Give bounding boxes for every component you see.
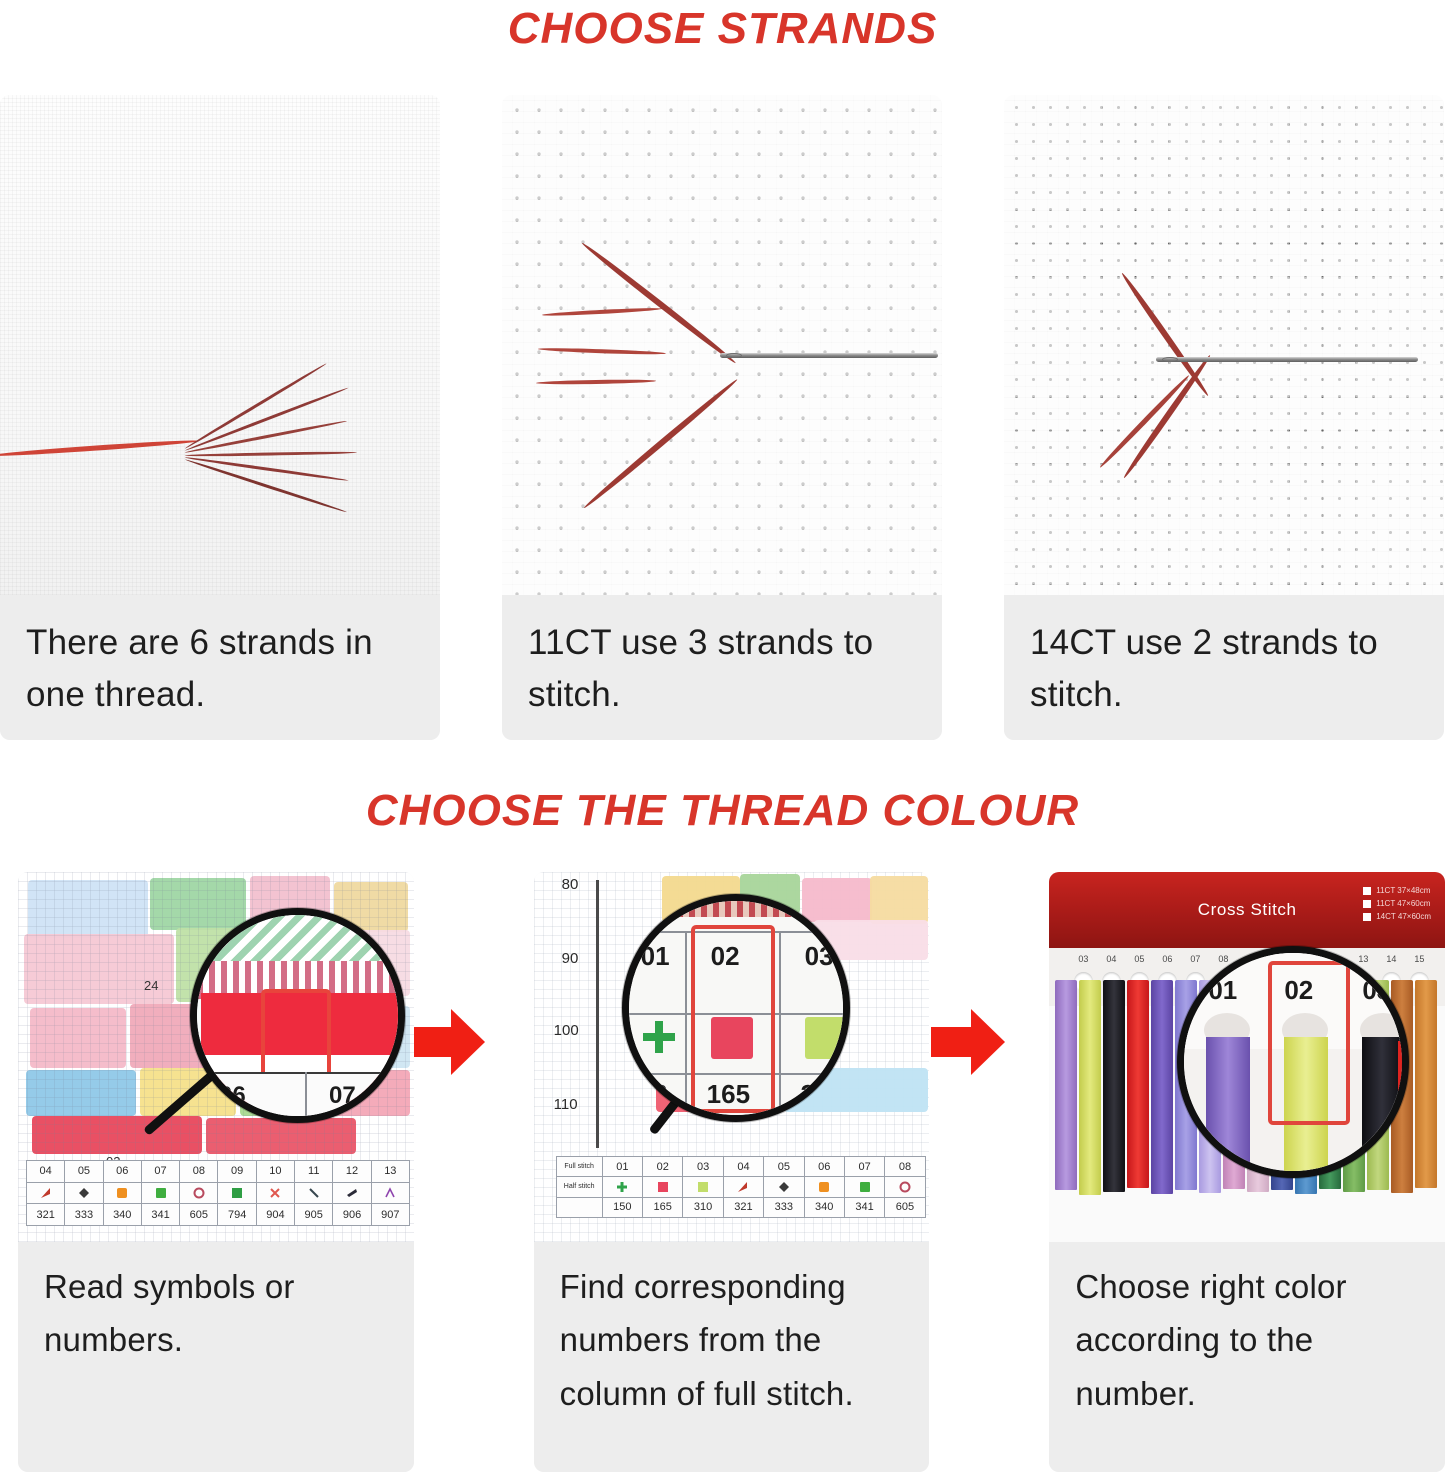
row-label-90: 90: [562, 950, 579, 967]
legend-symbol-diagonal-line-icon: [295, 1183, 333, 1204]
highlight-box-slot-02: [1268, 961, 1350, 1125]
thread-colour-card-row: 24 02 06 07: [0, 872, 1445, 1476]
legend-symbol-orange-square-icon: [104, 1183, 142, 1204]
legend-code: 904: [257, 1204, 295, 1225]
legend-code: 905: [295, 1204, 333, 1225]
legend-code: 310: [683, 1198, 723, 1217]
caption-11ct: 11CT use 3 strands to stitch.: [502, 595, 942, 740]
needle: [720, 353, 938, 358]
legend-symbol-red-square-icon: [643, 1177, 683, 1196]
caption-14ct: 14CT use 2 strands to stitch.: [1004, 595, 1444, 740]
legend-code: 333: [65, 1204, 103, 1225]
full-stitch-legend-table: Full stitch 01 02 03 04 05 06 07 08 Half…: [556, 1156, 926, 1218]
magnifier-lens: 01 02 03 66 165 310: [622, 894, 850, 1122]
legend-symbol-orange-square-icon: [805, 1177, 845, 1196]
slot-number: 05: [1129, 954, 1149, 964]
needle-eye-icon: [1162, 357, 1178, 362]
legend-symbol-green-square-icon: [845, 1177, 885, 1196]
legend-code: 605: [885, 1198, 924, 1217]
legend-code: 150: [603, 1198, 643, 1217]
checkbox-icon: [1363, 887, 1371, 895]
slot-number: 03: [1073, 954, 1093, 964]
legend-symbol-diamond-icon: [65, 1183, 103, 1204]
legend-row-header: Full stitch: [557, 1157, 603, 1176]
legend-row-symbols: [27, 1183, 409, 1205]
magnified-column-03: 03: [805, 941, 834, 972]
legend-row-numbers: 04 05 06 07 08 09 10 11 12 13: [27, 1161, 409, 1183]
legend-code: 907: [372, 1204, 409, 1225]
magnified-code-310: 310: [801, 1079, 844, 1110]
fabric-plain-weave: [0, 95, 440, 595]
legend-symbol-diamond-icon: [764, 1177, 804, 1196]
legend-number: 12: [333, 1161, 371, 1182]
floss-skein: [1103, 980, 1125, 1192]
legend-code: 605: [180, 1204, 218, 1225]
legend-symbol-red-cross-icon: [257, 1183, 295, 1204]
size-option: 11CT 47×60cm: [1376, 899, 1430, 908]
card-six-strands: There are 6 strands in one thread.: [0, 95, 440, 740]
legend-symbol-green-square-icon: [142, 1183, 180, 1204]
legend-number: 04: [27, 1161, 65, 1182]
legend-code: 333: [764, 1198, 804, 1217]
checkbox-icon: [1363, 913, 1371, 921]
highlight-box-column-02: [691, 925, 775, 1113]
legend-symbol-yellow-green-square-icon: [683, 1177, 723, 1196]
row-label-80: 80: [562, 876, 579, 893]
legend-code: 341: [845, 1198, 885, 1217]
size-option: 11CT 37×48cm: [1376, 886, 1430, 895]
card-read-symbols: 24 02 06 07: [18, 872, 414, 1472]
magnified-code-66: 66: [639, 1079, 668, 1110]
legend-symbol-circle-outline-icon: [180, 1183, 218, 1204]
legend-number: 06: [805, 1157, 845, 1176]
magnified-cell-07: 07: [329, 1082, 356, 1110]
legend-symbol-dark-wedge-icon: [333, 1183, 371, 1204]
photo-number-chart: 80 90 100 110 01 02 03: [534, 872, 930, 1242]
legend-code: 340: [805, 1198, 845, 1217]
legend-row-symbols: Half stitch: [557, 1177, 925, 1197]
floss-skein: [1079, 980, 1101, 1195]
legend-symbol-green-cross-icon: [603, 1177, 643, 1196]
banner-title: Cross Stitch: [1198, 900, 1297, 920]
card-11ct: 11CT use 3 strands to stitch.: [502, 95, 942, 740]
legend-number: 10: [257, 1161, 295, 1182]
photo-14ct: [1004, 95, 1444, 595]
magnifier-lens: 06 07: [190, 908, 405, 1123]
section-title-choose-thread-colour: CHOOSE THE THREAD COLOUR: [0, 786, 1445, 836]
section-title-choose-strands: CHOOSE STRANDS: [0, 4, 1445, 54]
card-14ct: 14CT use 2 strands to stitch.: [1004, 95, 1444, 740]
needle-eye-icon: [726, 353, 742, 358]
legend-number: 02: [643, 1157, 683, 1176]
magnified-slot-03: 03: [1362, 975, 1391, 1006]
legend-row-numbers: Full stitch 01 02 03 04 05 06 07 08: [557, 1157, 925, 1177]
legend-code: 165: [643, 1198, 683, 1217]
caption-find-numbers: Find corresponding numbers from the colu…: [534, 1242, 930, 1472]
legend-code: 906: [333, 1204, 371, 1225]
legend-row-codes: 321 333 340 341 605 794 904 905 906 907: [27, 1204, 409, 1225]
legend-number: 06: [104, 1161, 142, 1182]
legend-number: 05: [65, 1161, 103, 1182]
legend-number: 08: [180, 1161, 218, 1182]
magnified-slot-01: 01: [1208, 975, 1237, 1006]
legend-symbol-chevron-icon: [372, 1183, 409, 1204]
magnified-symbol-green-square-icon: [805, 1017, 847, 1059]
floss-skein: [1415, 980, 1437, 1188]
legend-number: 05: [764, 1157, 804, 1176]
legend-symbol-triangle-flag-icon: [27, 1183, 65, 1204]
legend-symbol-triangle-flag-icon: [724, 1177, 764, 1196]
legend-number: 09: [218, 1161, 256, 1182]
strands-card-row: There are 6 strands in one thread. 11CT …: [0, 95, 1445, 745]
caption-six-strands: There are 6 strands in one thread.: [0, 595, 440, 740]
size-option: 14CT 47×60cm: [1376, 912, 1431, 921]
legend-number: 07: [142, 1161, 180, 1182]
legend-number: 07: [845, 1157, 885, 1176]
magnified-symbol-green-cross-icon: [639, 1017, 679, 1057]
legend-code: 340: [104, 1204, 142, 1225]
fabric-aida-11ct: [502, 95, 942, 595]
checkbox-icon: [1363, 900, 1371, 908]
photo-11ct: [502, 95, 942, 595]
row-label-110: 110: [554, 1096, 578, 1113]
legend-number: 03: [683, 1157, 723, 1176]
infographic-page: CHOOSE STRANDS There are 6 strands in on…: [0, 0, 1445, 1476]
needle: [1156, 357, 1418, 362]
slot-number: 15: [1409, 954, 1429, 964]
legend-number: 11: [295, 1161, 333, 1182]
magnifier-lens: 01 02 03: [1177, 946, 1409, 1178]
legend-row-header: [557, 1198, 603, 1217]
row-label-100: 100: [554, 1022, 579, 1039]
legend-symbol-green-block-icon: [218, 1183, 256, 1204]
photo-thread-card: Cross Stitch 11CT 37×48cm 11CT 47×60cm 1…: [1049, 872, 1445, 1242]
legend-code: 321: [27, 1204, 65, 1225]
legend-code: 794: [218, 1204, 256, 1225]
magnified-column-01: 01: [641, 941, 670, 972]
caption-choose-color: Choose right color according to the numb…: [1049, 1242, 1445, 1472]
magnified-cell-06: 06: [219, 1082, 246, 1110]
floss-skein: [1055, 980, 1077, 1190]
legend-code: 321: [724, 1198, 764, 1217]
legend-number: 04: [724, 1157, 764, 1176]
legend-row-codes: 150 165 310 321 333 340 341 605: [557, 1198, 925, 1217]
legend-symbol-circle-outline-icon: [885, 1177, 924, 1196]
banner-size-legend: 11CT 37×48cm 11CT 47×60cm 14CT 47×60cm: [1363, 886, 1431, 925]
symbol-legend-table: 04 05 06 07 08 09 10 11 12 13: [26, 1160, 410, 1226]
legend-row-header: Half stitch: [557, 1177, 603, 1196]
thread-card-banner: Cross Stitch 11CT 37×48cm 11CT 47×60cm 1…: [1049, 872, 1445, 948]
legend-code: 341: [142, 1204, 180, 1225]
slot-number: 04: [1101, 954, 1121, 964]
legend-number: 13: [372, 1161, 409, 1182]
floss-skein: [1127, 980, 1149, 1188]
photo-six-strands: [0, 95, 440, 595]
slot-number: 06: [1157, 954, 1177, 964]
legend-number: 08: [885, 1157, 924, 1176]
card-find-numbers: 80 90 100 110 01 02 03: [534, 872, 930, 1472]
caption-read-symbols: Read symbols or numbers.: [18, 1242, 414, 1472]
photo-pattern-chart: 24 02 06 07: [18, 872, 414, 1242]
fabric-aida-14ct: [1004, 95, 1444, 595]
legend-number: 01: [603, 1157, 643, 1176]
card-choose-color: Cross Stitch 11CT 37×48cm 11CT 47×60cm 1…: [1049, 872, 1445, 1472]
floss-skein: [1151, 980, 1173, 1194]
